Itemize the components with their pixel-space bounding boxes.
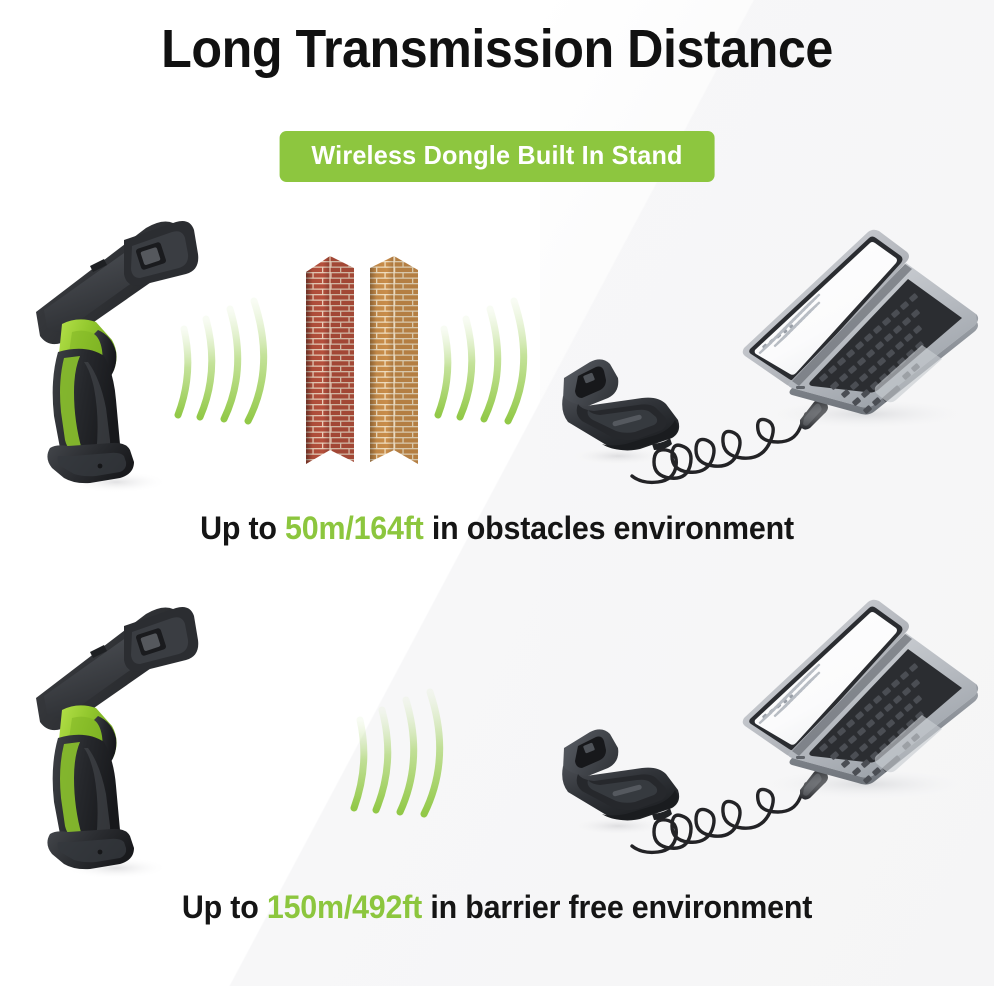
caption-distance: 150m/492ft [267,889,422,925]
caption-barrier-free: Up to 150m/492ft in barrier free environ… [25,889,969,926]
page-title: Long Transmission Distance [35,18,959,80]
scenario-row-barrier-free [0,578,994,888]
caption-prefix: Up to [182,889,267,925]
infographic-page: Long Transmission Distance Wireless Dong… [0,0,994,986]
caption-obstacles: Up to 50m/164ft in obstacles environment [25,510,969,547]
scenario-row-obstacles [0,200,994,510]
caption-prefix: Up to [200,510,285,546]
caption-suffix: in obstacles environment [424,510,794,546]
caption-distance: 50m/164ft [285,510,424,546]
feature-badge-label: Wireless Dongle Built In Stand [311,140,682,171]
feature-badge: Wireless Dongle Built In Stand [280,131,715,182]
caption-suffix: in barrier free environment [422,889,812,925]
